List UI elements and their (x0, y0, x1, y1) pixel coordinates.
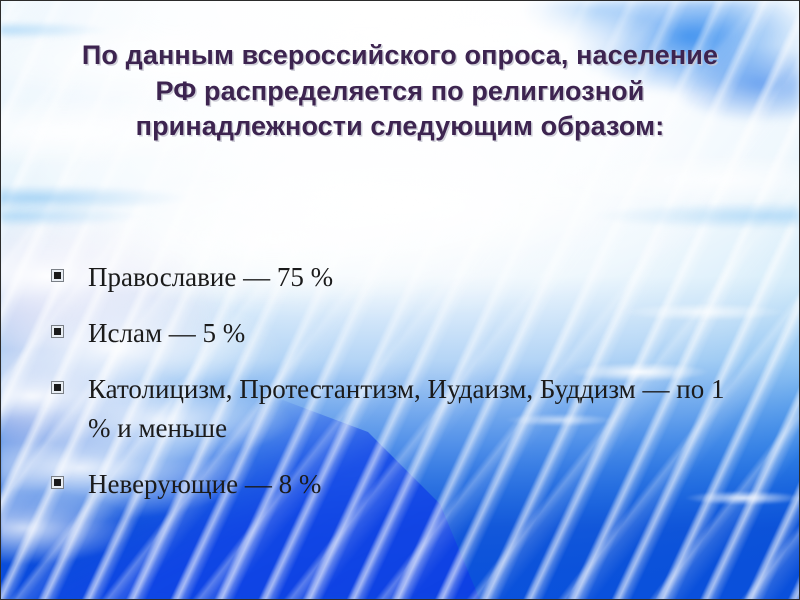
list-item-label: Ислам — 5 % (88, 314, 752, 353)
square-bullet-icon (52, 477, 63, 488)
square-bullet-icon (52, 270, 63, 281)
bullet-list: Православие — 75 % Ислам — 5 % Католициз… (52, 258, 752, 520)
list-item: Православие — 75 % (52, 258, 752, 297)
list-item-label: Православие — 75 % (88, 258, 752, 297)
slide-title: По данным всероссийского опроса, населен… (60, 38, 740, 145)
slide-canvas: По данным всероссийского опроса, населен… (0, 0, 800, 600)
list-item-label: Католицизм, Протестантизм, Иудаизм, Будд… (88, 370, 752, 448)
list-item: Неверующие — 8 % (52, 465, 752, 504)
slide-content: По данным всероссийского опроса, населен… (0, 0, 800, 600)
list-item: Ислам — 5 % (52, 314, 752, 353)
square-bullet-icon (52, 382, 63, 393)
square-bullet-icon (52, 326, 63, 337)
list-item-label: Неверующие — 8 % (88, 465, 752, 504)
list-item: Католицизм, Протестантизм, Иудаизм, Будд… (52, 370, 752, 448)
